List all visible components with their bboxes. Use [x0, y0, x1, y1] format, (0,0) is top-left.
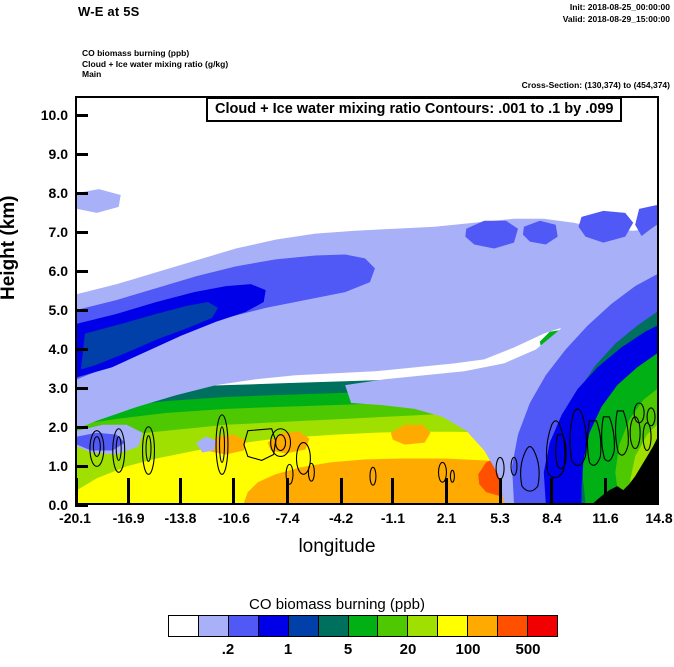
y-tick-mark	[75, 153, 88, 156]
colorbar-swatch	[259, 616, 289, 636]
cross-section-plot: Cloud + Ice water mixing ratio Contours:…	[75, 96, 659, 505]
field-line-co: CO biomass burning (ppb)	[82, 48, 228, 59]
valid-time: Valid: 2018-08-29_15:00:00	[563, 14, 670, 26]
x-tick-mark	[391, 478, 394, 504]
run-time-info: Init: 2018-08-25_00:00:00 Valid: 2018-08…	[563, 2, 670, 25]
colorbar-tick-label: 500	[515, 641, 540, 658]
x-axis-tick-marks	[75, 478, 659, 505]
init-time: Init: 2018-08-25_00:00:00	[563, 2, 670, 14]
colorbar-swatch	[408, 616, 438, 636]
colorbar-swatch	[438, 616, 468, 636]
x-tick-label: -1.1	[381, 510, 405, 526]
y-tick-mark	[75, 465, 88, 468]
x-tick-label: 14.8	[645, 510, 672, 526]
colorbar-swatch	[498, 616, 528, 636]
colorbar-swatch	[378, 616, 408, 636]
x-tick-mark	[232, 478, 235, 504]
y-tick-label: 4.0	[49, 341, 68, 357]
plot-title-box: Cloud + Ice water mixing ratio Contours:…	[206, 97, 622, 122]
x-axis-title: longitude	[0, 536, 674, 558]
x-tick-label: 8.4	[542, 510, 561, 526]
x-tick-label: 5.3	[490, 510, 509, 526]
y-tick-mark	[75, 309, 88, 312]
field-line-domain: Main	[82, 69, 228, 80]
field-description: CO biomass burning (ppb) Cloud + Ice wat…	[82, 48, 228, 80]
cross-section-endpoints: Cross-Section: (130,374) to (454,374)	[522, 80, 670, 90]
x-tick-label: 2.1	[437, 510, 456, 526]
y-tick-label: 6.0	[49, 263, 68, 279]
field-line-cloud: Cloud + Ice water mixing ratio (g/kg)	[82, 59, 228, 70]
x-tick-mark	[445, 478, 448, 504]
y-axis-tick-marks	[75, 96, 89, 505]
x-tick-mark	[604, 478, 607, 504]
colorbar-swatch	[229, 616, 259, 636]
colorbar-swatch	[528, 616, 557, 636]
x-tick-mark	[286, 478, 289, 504]
colorbar-swatch	[319, 616, 349, 636]
x-tick-label: -10.6	[218, 510, 250, 526]
x-tick-label: -4.2	[329, 510, 353, 526]
y-tick-mark	[75, 192, 88, 195]
colorbar-tick-label: 20	[400, 641, 417, 658]
contour-field	[77, 98, 657, 503]
x-tick-mark	[550, 478, 553, 504]
x-tick-label: -20.1	[59, 510, 91, 526]
colorbar-tick-label: .2	[222, 641, 235, 658]
y-tick-label: 8.0	[49, 185, 68, 201]
colorbar-swatch	[199, 616, 229, 636]
y-tick-label: 10.0	[41, 107, 68, 123]
page-title: W-E at 5S	[78, 4, 140, 19]
x-tick-mark	[656, 478, 659, 504]
colorbar-title: CO biomass burning (ppb)	[0, 596, 674, 613]
y-tick-mark	[75, 387, 88, 390]
y-tick-mark	[75, 348, 88, 351]
x-tick-label: -13.8	[164, 510, 196, 526]
x-tick-label: -16.9	[113, 510, 145, 526]
colorbar-tick-label: 5	[344, 641, 352, 658]
x-tick-mark	[179, 478, 182, 504]
y-tick-label: 3.0	[49, 380, 68, 396]
y-tick-label: 7.0	[49, 224, 68, 240]
y-tick-mark	[75, 114, 88, 117]
colorbar-tick-label: 1	[284, 641, 292, 658]
y-axis-title: Height (km)	[0, 196, 20, 301]
x-tick-mark	[75, 478, 78, 504]
y-tick-label: 5.0	[49, 302, 68, 318]
y-tick-label: 1.0	[49, 458, 68, 474]
y-tick-mark	[75, 270, 88, 273]
colorbar-swatch	[289, 616, 319, 636]
colorbar	[168, 615, 558, 637]
y-tick-mark	[75, 426, 88, 429]
x-tick-label: 11.6	[592, 510, 618, 526]
colorbar-swatch	[169, 616, 199, 636]
x-tick-mark	[499, 478, 502, 504]
x-tick-mark	[127, 478, 130, 504]
y-tick-label: 2.0	[49, 419, 68, 435]
y-tick-mark	[75, 231, 88, 234]
colorbar-tick-labels: .21520100500	[168, 641, 558, 661]
colorbar-tick-label: 100	[455, 641, 480, 658]
colorbar-swatch	[468, 616, 498, 636]
y-axis-tick-labels: 0.01.02.03.04.05.06.07.08.09.010.0	[0, 96, 75, 505]
x-tick-label: -7.4	[275, 510, 299, 526]
colorbar-swatch	[349, 616, 379, 636]
x-tick-mark	[340, 478, 343, 504]
y-tick-label: 9.0	[49, 146, 68, 162]
